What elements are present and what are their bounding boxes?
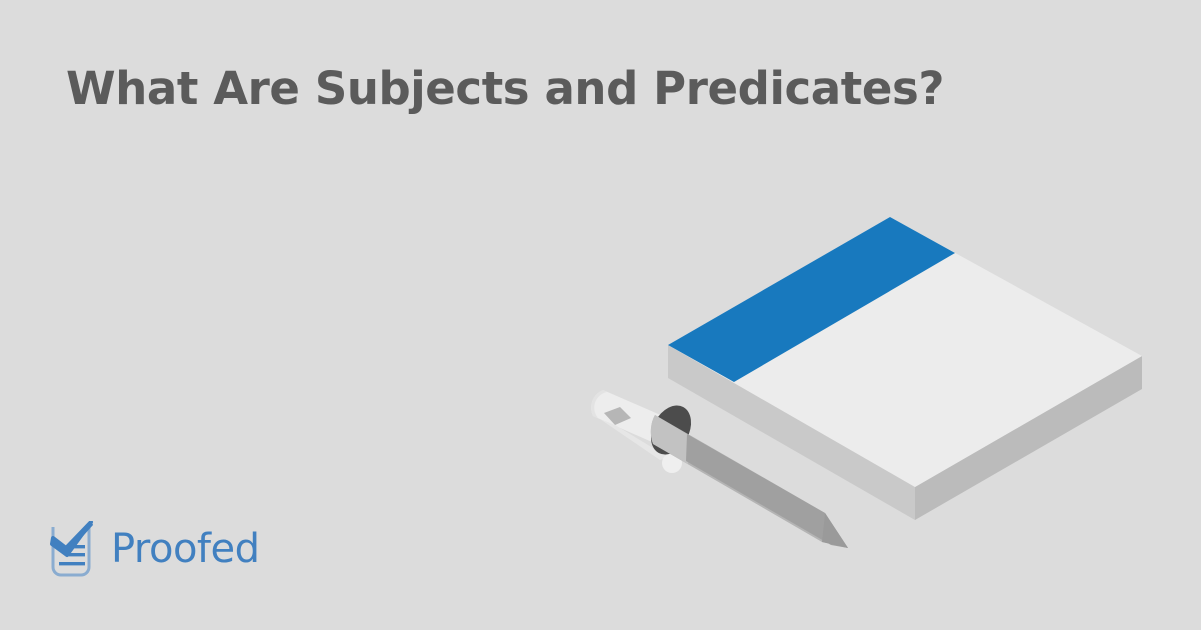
page-title: What Are Subjects and Predicates? [66,62,1066,116]
checkmark-stroke [52,522,91,555]
proofed-checklist-document-icon [48,521,98,577]
banner-canvas: What Are Subjects and Predicates? [0,0,1201,630]
notepad-pen-illustration [560,215,1180,615]
proofed-logo[interactable]: Proofed [48,521,260,577]
logo-wordmark: Proofed [111,529,260,569]
pen-tip [822,513,848,548]
document-line-3 [59,562,85,565]
